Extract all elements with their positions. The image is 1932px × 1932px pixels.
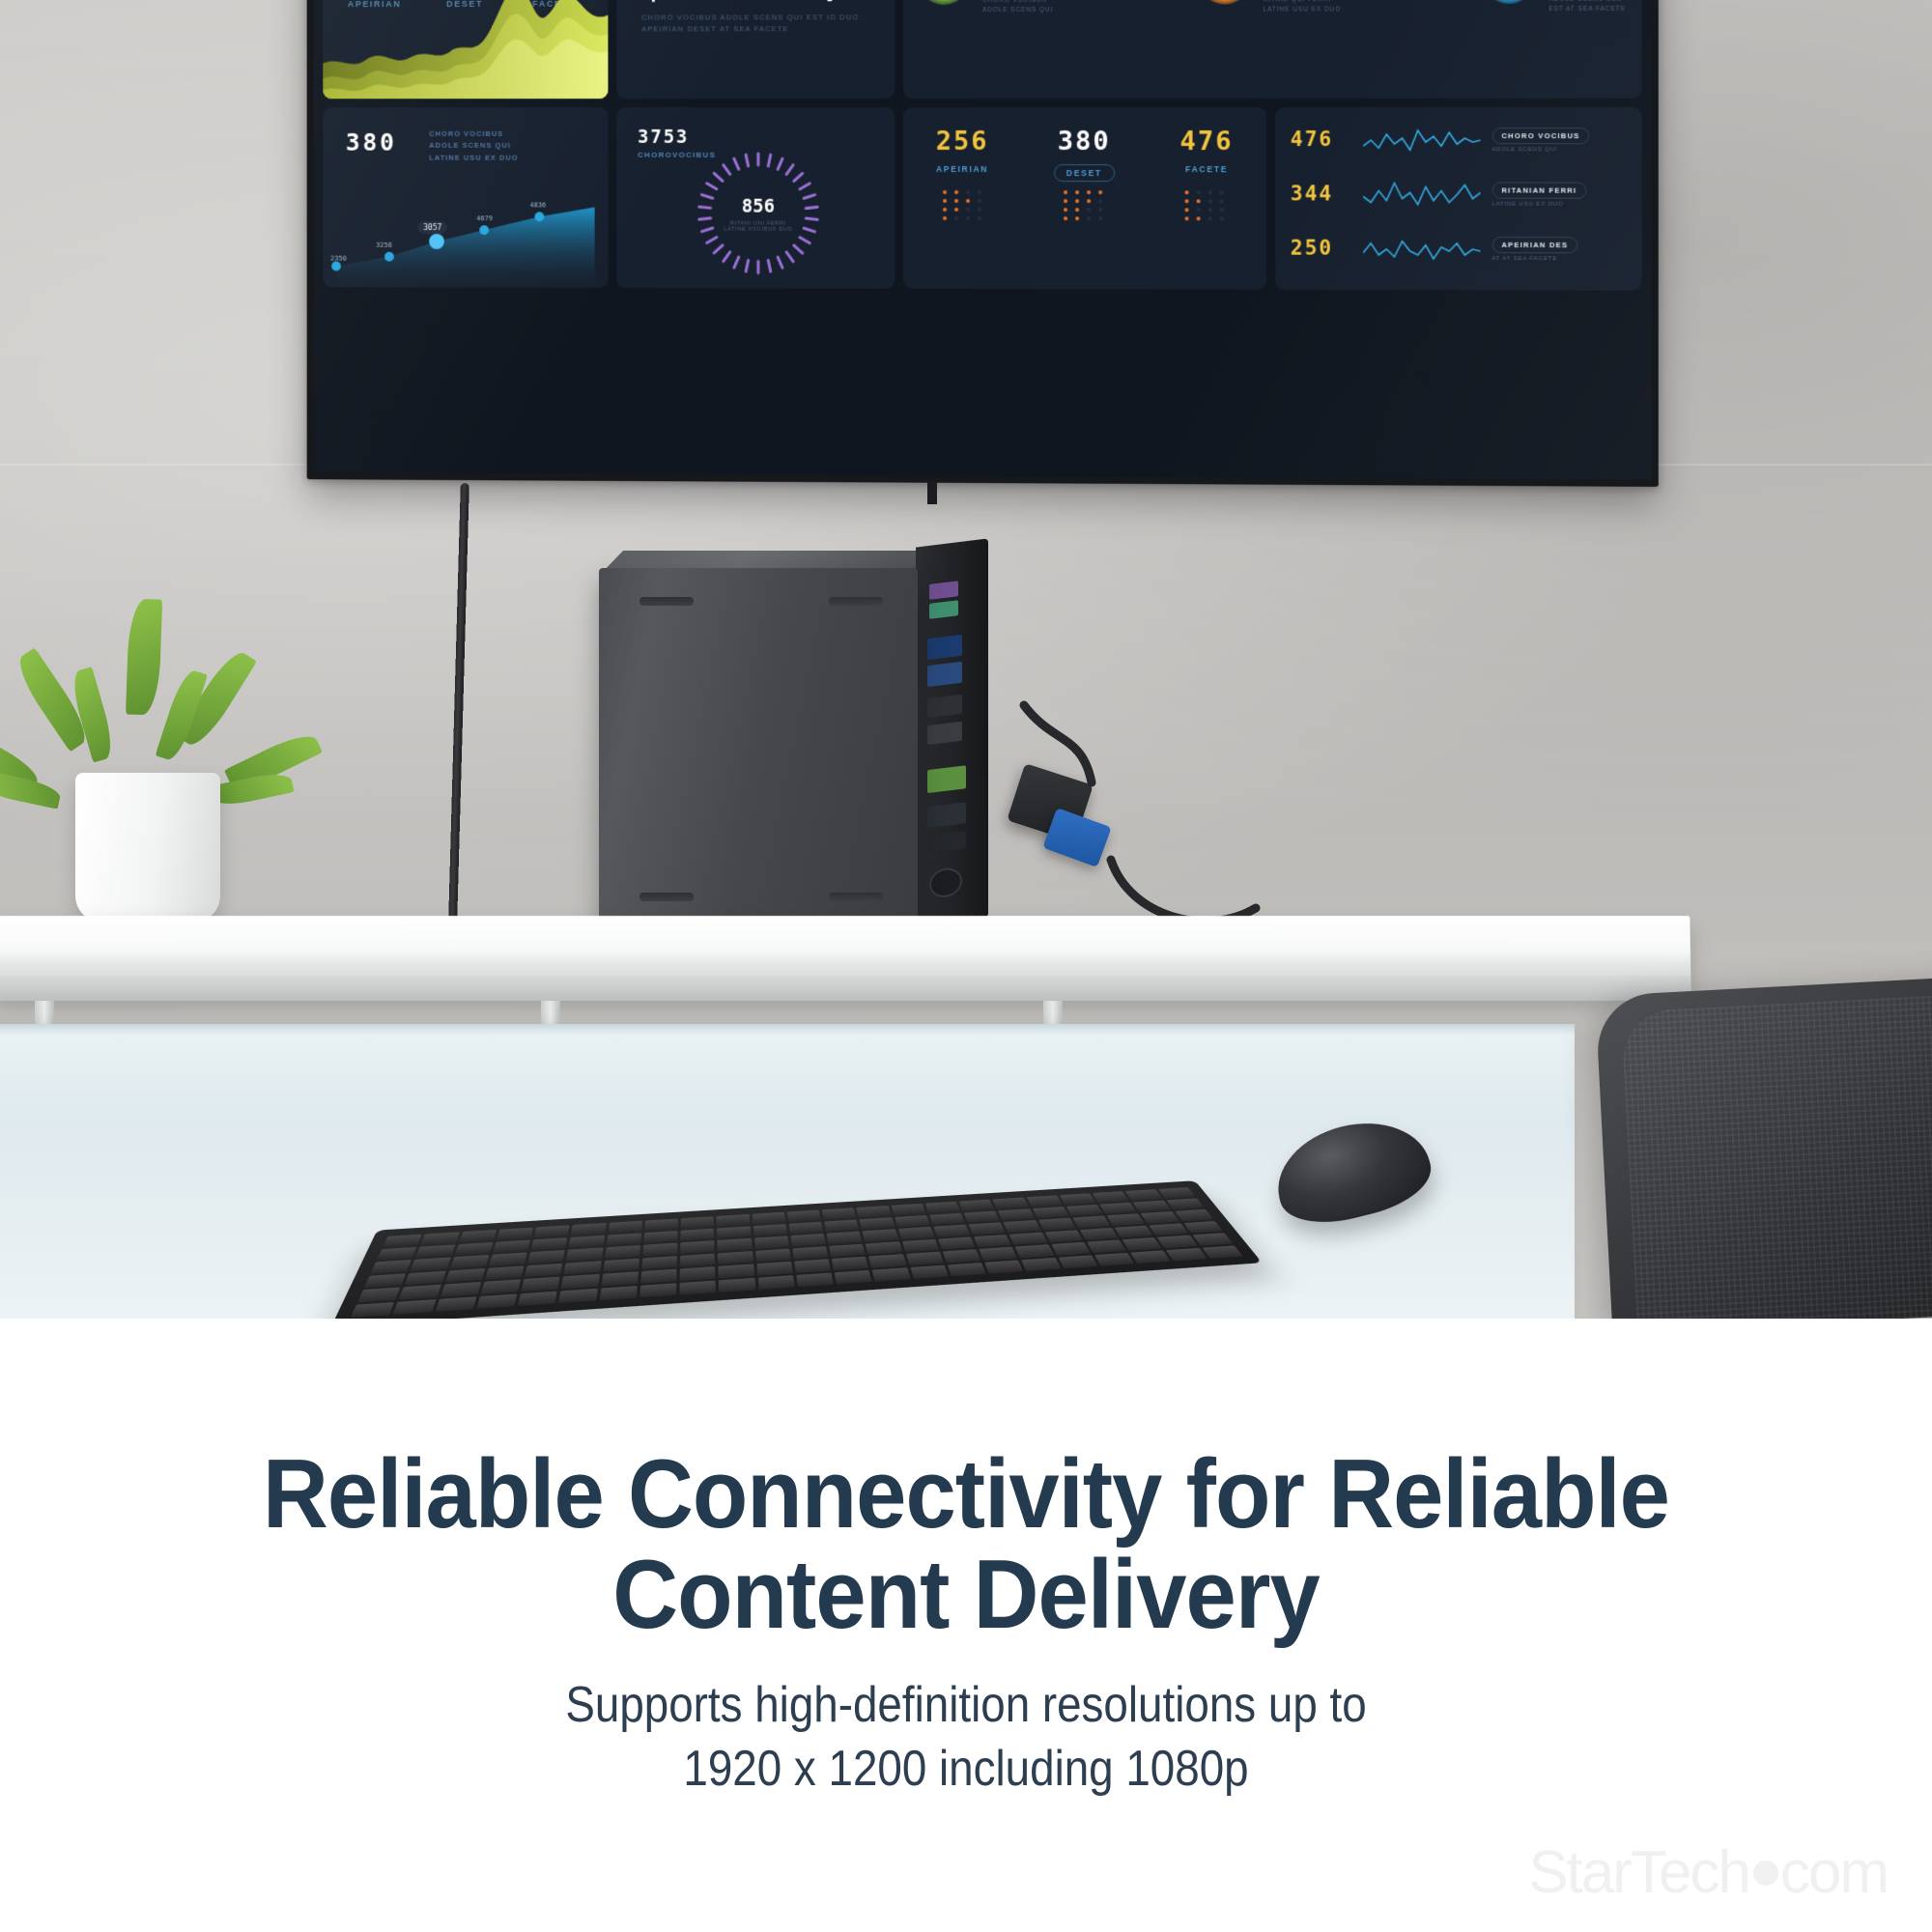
- dashboard-card-radial: 3753 CHOROVOCIBUS: [616, 107, 895, 289]
- ethernet-port: [927, 722, 962, 745]
- gauge-meta: FACETE 509 ADOLE SCENS DES EST AT SEA FA…: [1548, 0, 1626, 14]
- triple-metric-item: 380 DESET: [1054, 127, 1115, 182]
- big-money-value: $45.298,98: [641, 0, 895, 6]
- marketing-text-panel: Reliable Connectivity for Reliable Conte…: [0, 1319, 1932, 1932]
- headline-line2: Content Delivery: [68, 1545, 1864, 1645]
- vga-port: [927, 635, 962, 660]
- wall-mounted-tv: 25 APEIRIAN 47 DESET 74 FACETE: [307, 0, 1659, 487]
- sparkline-chip: APEIRIAN DES: [1492, 237, 1577, 253]
- scatter-point-label: 2350: [330, 255, 347, 263]
- triple-caption: APEIRIAN: [936, 164, 989, 174]
- gauge-item: 45 DESET 360 RITANI QUI FERRI LATINE USU…: [1199, 0, 1341, 14]
- dashboard-card-group-bottom-right: 256 APEIRIAN 380 DESET 476 FACETE: [903, 107, 1641, 291]
- gauge-sub2: LATINE USU EX DUO: [1264, 5, 1342, 14]
- office-chair: [1595, 975, 1932, 1319]
- subtitle-line2: 1920 x 1200 including 1080p: [116, 1738, 1816, 1802]
- triple-caption: FACETE: [1180, 164, 1234, 174]
- triple-caption: DESET: [1054, 164, 1115, 182]
- gauge-item: 25 APEIRIAN 734 CHORO VOCIBUS ADOLE SCEN…: [919, 0, 1057, 15]
- scatter-point-label: 3258: [376, 241, 392, 249]
- dot-matrix: [943, 190, 984, 220]
- big-money-subtext: CHORO VOCIBUS ADOLE SCENS QUI EST ID DUO…: [641, 12, 891, 35]
- dashboard-card-sparklines: 476 CHORO VOCIBUS ADOLE SCENS QUI: [1275, 107, 1642, 291]
- power-connector: [929, 867, 962, 899]
- dvi-port: [927, 802, 966, 828]
- audio-port-group: [927, 765, 966, 793]
- usb-port-group: [927, 695, 962, 718]
- gauge-row: 25 APEIRIAN 734 CHORO VOCIBUS ADOLE SCEN…: [919, 0, 1626, 15]
- dashboard-card-scatter: 380 CHORO VOCIBUS ADOLE SCENS QUI LATINE…: [323, 107, 608, 288]
- dot-matrix: [1064, 190, 1105, 220]
- radial-center: 856 RITANI UNI FERRI LATINE VOCIBUS DUO: [720, 196, 796, 233]
- sparkline-row: 344 RITANIAN FERRI LATINE USU EX DUO: [1291, 177, 1626, 211]
- sparkline-value: 476: [1291, 128, 1351, 151]
- gauge-sub: CHORO VOCIBUS ADOLE SCENS QUI: [982, 0, 1057, 14]
- desk-front-edge: [0, 1024, 1575, 1036]
- sparkline-row: 476 CHORO VOCIBUS ADOLE SCENS QUI: [1291, 123, 1626, 156]
- gauge-meta: APEIRIAN 734 CHORO VOCIBUS ADOLE SCENS Q…: [982, 0, 1057, 14]
- sparkline-chip: RITANIAN FERRI: [1492, 182, 1586, 198]
- product-marketing-image: 25 APEIRIAN 47 DESET 74 FACETE: [0, 0, 1932, 1932]
- sparkline-chip: CHORO VOCIBUS: [1492, 128, 1589, 144]
- gauge-sub: RITANI QUI FERRI LATINE USU EX DUO: [1264, 0, 1342, 14]
- triple-value: 256: [936, 127, 989, 156]
- gauge-blob: 69: [1484, 0, 1535, 4]
- radial-center-sub2: LATINE VOCIBUS DUO: [720, 227, 796, 233]
- gauge-blob: 25: [919, 0, 969, 5]
- pc-vent-slot: [829, 597, 883, 606]
- gauge-item: 69 FACETE 509 ADOLE SCENS DES EST AT SEA…: [1484, 0, 1626, 14]
- logo-text-right: com: [1780, 1838, 1888, 1907]
- dashboard-card-triple: 256 APEIRIAN 380 DESET 476 FACETE: [903, 107, 1265, 290]
- money-sub-line1: CHORO VOCIBUS ADOLE SCENS QUI EST ID DUO: [641, 12, 891, 23]
- scatter-value: 380: [346, 128, 397, 156]
- dashboard-card-wave-gauges: 0 5 10 15 20 25 30 35 25: [903, 0, 1641, 99]
- sparkline-caption: ADOLE SCENS QUI: [1492, 147, 1589, 153]
- sparkline-row: 250 APEIRIAN DES AT AT SEA FACETE: [1291, 232, 1626, 266]
- dashboard-card-trio-wave: 25 APEIRIAN 47 DESET 74 FACETE: [323, 0, 608, 99]
- triple-metric-item: 256 APEIRIAN: [936, 127, 989, 182]
- startech-logo: StarTech com: [1528, 1838, 1888, 1907]
- sparkline-chart: [1363, 177, 1481, 210]
- ps2-mouse-port: [929, 600, 958, 619]
- scatter-label-line1: CHORO VOCIBUS: [429, 128, 518, 140]
- scatter-point-label: 4679: [476, 214, 493, 222]
- desktop-computer: [599, 551, 971, 937]
- scatter-label-line2: ADOLE SCENS QUI: [429, 140, 518, 152]
- scatter-point-label: 4836: [530, 201, 547, 209]
- dot-matrix: [1184, 190, 1226, 220]
- pc-vent-slot: [639, 893, 694, 901]
- radial-center-value: 856: [720, 196, 796, 217]
- sparkline-meta: RITANIAN FERRI LATINE USU EX DUO: [1492, 180, 1586, 207]
- scatter-point-label-active: 3057: [417, 221, 447, 234]
- gauge-blob: 45: [1199, 0, 1249, 5]
- headline: Reliable Connectivity for Reliable Conte…: [68, 1444, 1864, 1645]
- gauge-sub2: EST AT SEA FACETE: [1548, 5, 1626, 14]
- subtitle-line1: Supports high-definition resolutions up …: [116, 1674, 1816, 1738]
- logo-dot-icon: [1753, 1861, 1778, 1886]
- serial-port: [927, 831, 966, 853]
- sparkline-value: 250: [1291, 237, 1351, 260]
- pc-side-panel: [599, 568, 918, 937]
- sparkline-meta: APEIRIAN DES AT AT SEA FACETE: [1492, 235, 1577, 262]
- pc-vent-slot: [639, 597, 694, 606]
- display-port: [927, 662, 962, 687]
- shelf-edge: [0, 976, 1690, 1001]
- area-chart-olive: [323, 0, 608, 99]
- sparkline-chart: [1363, 123, 1481, 156]
- gauge-sub: ADOLE SCENS DES EST AT SEA FACETE: [1548, 0, 1626, 14]
- logo-text-left: StarTech: [1528, 1838, 1749, 1907]
- product-photo: 25 APEIRIAN 47 DESET 74 FACETE: [0, 0, 1932, 1319]
- gauge-meta: DESET 360 RITANI QUI FERRI LATINE USU EX…: [1264, 0, 1342, 14]
- sparkline-meta: CHORO VOCIBUS ADOLE SCENS QUI: [1492, 126, 1589, 153]
- triple-value: 380: [1054, 127, 1115, 156]
- gauge-sub2: ADOLE SCENS QUI: [982, 6, 1057, 15]
- triple-metric-row: 256 APEIRIAN 380 DESET 476 FACETE: [903, 127, 1265, 182]
- scatter-chart-svg: [323, 174, 608, 288]
- dashboard: 25 APEIRIAN 47 DESET 74 FACETE: [314, 0, 1652, 480]
- tv-screen: 25 APEIRIAN 47 DESET 74 FACETE: [314, 0, 1652, 480]
- triple-value: 476: [1180, 127, 1234, 156]
- triple-metric-item: 476 FACETE: [1180, 127, 1234, 182]
- subtitle: Supports high-definition resolutions up …: [116, 1674, 1816, 1801]
- sparkline-caption: AT AT SEA FACETE: [1492, 256, 1577, 262]
- chair-mesh: [1621, 993, 1932, 1319]
- scatter-label-line3: LATINE USU EX DUO: [429, 152, 518, 163]
- money-sub-line2: APEIRIAN DESET AT SEA FACETE: [641, 23, 891, 35]
- sparkline-caption: LATINE USU EX DUO: [1492, 202, 1586, 208]
- scatter-label: CHORO VOCIBUS ADOLE SCENS QUI LATINE USU…: [429, 128, 518, 164]
- pc-vent-slot: [829, 893, 883, 901]
- dot-matrix-row: [903, 190, 1265, 221]
- dashboard-card-stats: ADOLE SCENS QUI 734: [616, 0, 895, 99]
- sparkline-value: 344: [1291, 182, 1351, 205]
- radial-value: 3753: [638, 127, 689, 148]
- sparkline-chart: [1363, 232, 1481, 265]
- plant-pot: [75, 773, 220, 923]
- tv-mount-stem: [927, 481, 937, 504]
- headline-line1: Reliable Connectivity for Reliable: [68, 1444, 1864, 1545]
- ps2-port: [929, 581, 958, 600]
